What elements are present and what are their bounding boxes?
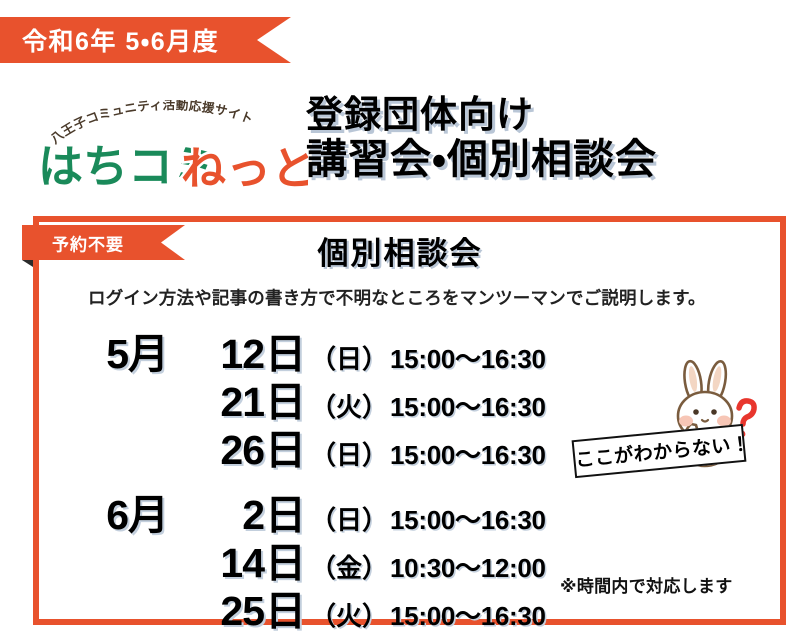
schedule-day-of-week: （火） [306, 387, 390, 424]
logo-wordmark-orange: ねっと [181, 142, 308, 194]
schedule-month: 6月 [68, 481, 168, 541]
schedule-time: 15:00～16:30 [390, 500, 546, 537]
schedule-time: 15:00～16:30 [390, 596, 546, 633]
page-title-line2: 講習会・個別相談会 [306, 136, 786, 184]
schedule-day: 25 [168, 588, 264, 635]
schedule-day: 2 [168, 492, 264, 539]
schedule-day-of-week: （金） [306, 548, 390, 585]
schedule-time: 15:00～16:30 [390, 339, 546, 376]
rabbit-cheek-left [679, 416, 693, 427]
schedule-day-of-week: （火） [306, 596, 390, 633]
schedule-day: 21 [168, 379, 264, 426]
schedule-row: 6月2日（日）15:00～16:30 [68, 481, 568, 529]
schedule-day-of-week: （日） [306, 435, 390, 472]
schedule-day: 26 [168, 427, 264, 474]
section-description: ログイン方法や記事の書き方で不明なところをマンツーマンでご説明します。 [88, 285, 728, 310]
schedule-day: 14 [168, 540, 264, 587]
period-ribbon: 令和6年 5・6月度 [0, 17, 291, 63]
schedule-day-of-week: （日） [306, 500, 390, 537]
page-title-line1: 登録団体向け [306, 93, 786, 136]
schedule-month: 5月 [68, 320, 168, 380]
schedule-time: 10:30～12:00 [390, 548, 546, 585]
rabbit-eye-left [693, 409, 699, 415]
schedule-time: 15:00～16:30 [390, 387, 546, 424]
period-ribbon-label: 令和6年 5・6月度 [22, 22, 219, 58]
schedule-list: 5月12日（日）15:00～16:3021日（火）15:00～16:3026日（… [68, 320, 568, 625]
rabbit-eye-right [711, 409, 717, 415]
page-title: 登録団体向け 講習会・個別相談会 [306, 93, 786, 184]
footnote: ※時間内で対応します [560, 572, 733, 597]
schedule-time: 15:00～16:30 [390, 435, 546, 472]
reservation-ribbon-label: 予約不要 [52, 230, 124, 255]
logo-wordmark: はちコミ ねっと [38, 136, 308, 194]
schedule-day: 12 [168, 331, 264, 378]
schedule-day-unit: 日 [264, 416, 306, 476]
schedule-day-unit: 日 [264, 577, 306, 637]
logo-wordmark-svg: はちコミ ねっと [38, 136, 308, 194]
reservation-ribbon: 予約不要 [22, 225, 185, 260]
site-logo: 八王子コミュニティ活動応援サイト はちコミ ねっと [38, 100, 308, 195]
schedule-row: 5月12日（日）15:00～16:30 [68, 320, 568, 368]
schedule-day-of-week: （日） [306, 339, 390, 376]
